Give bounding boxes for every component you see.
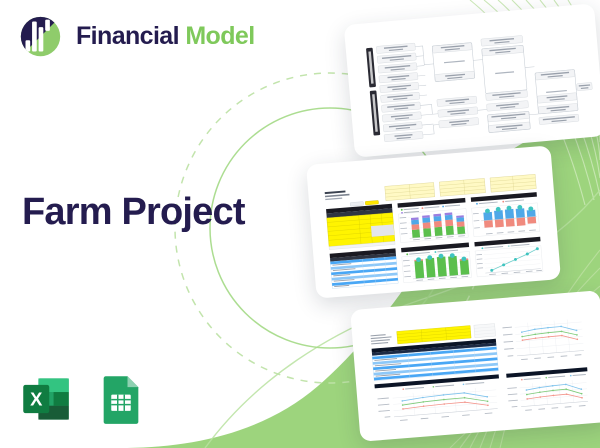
profitability-waterfall-chart bbox=[471, 192, 540, 237]
financial-model-circle-chart-logo-icon bbox=[18, 14, 63, 59]
cumulative-cash-line-chart bbox=[474, 237, 543, 277]
dupont-tree-diagram-card[interactable] bbox=[344, 3, 600, 157]
page-title: Farm Project bbox=[22, 192, 245, 234]
financial-dashboard-card[interactable] bbox=[306, 145, 561, 298]
projections-preview bbox=[358, 298, 600, 435]
brand-name-part1: Financial bbox=[76, 22, 179, 50]
brand-name-part2: Model bbox=[185, 22, 254, 50]
ratios-table bbox=[330, 248, 399, 288]
revenue-projection-chart bbox=[502, 316, 587, 367]
projection-lines-card[interactable] bbox=[350, 290, 600, 442]
brand-logo: Financial Model bbox=[18, 14, 255, 59]
assumptions-input-table bbox=[326, 204, 395, 250]
svg-text:X: X bbox=[30, 389, 43, 410]
dashboard-preview bbox=[314, 153, 554, 291]
tree-node-roe bbox=[576, 82, 593, 91]
tree-diagram-preview bbox=[351, 11, 597, 150]
microsoft-excel-icon[interactable]: X bbox=[20, 373, 72, 425]
file-format-icons: X bbox=[20, 373, 147, 425]
google-sheets-icon[interactable] bbox=[95, 373, 147, 425]
cash-flow-bar-chart bbox=[401, 243, 471, 283]
stacked-revenue-chart bbox=[397, 198, 468, 243]
brand-wordmark: Financial Model bbox=[76, 24, 255, 49]
poster-canvas: Financial Model Farm Project X bbox=[0, 0, 600, 448]
